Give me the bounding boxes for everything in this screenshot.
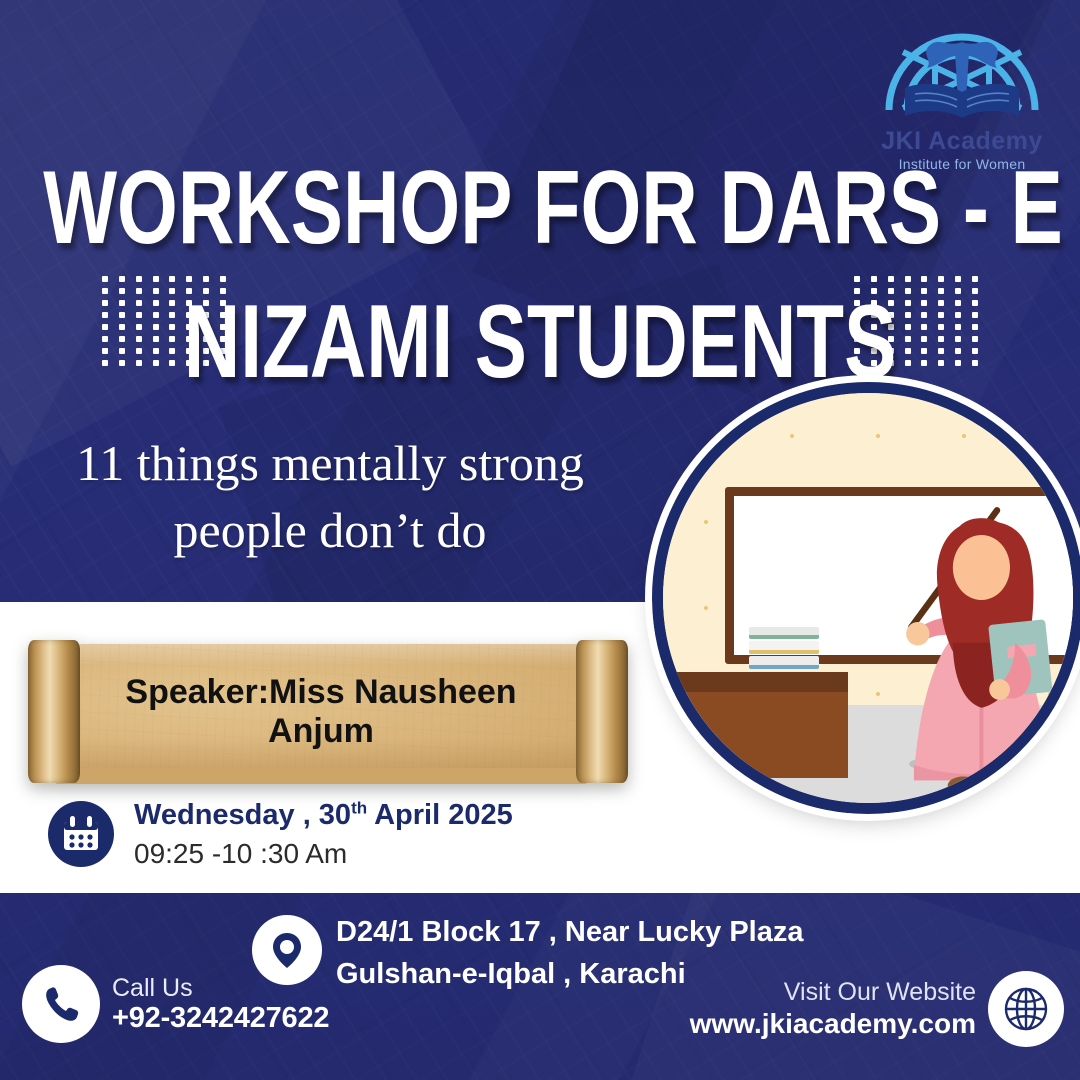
event-date-month-year: April 2025 — [367, 799, 513, 831]
event-date-ordinal: th — [351, 798, 367, 817]
teacher-figure-icon — [893, 487, 1080, 799]
address-line-2: Gulshan-e-Iqbal , Karachi — [336, 958, 686, 990]
tree-book-emblem-icon — [877, 12, 1047, 132]
poster-footer: Call Us +92-3242427622 D24/1 Block 17 , … — [0, 893, 1080, 1080]
title-line-1: WORKSHOP FOR DARS - E - — [43, 159, 1037, 259]
schedule-block: Wednesday , 30th April 2025 09:25 -10 :3… — [48, 798, 513, 870]
phone-icon — [22, 965, 100, 1043]
phone-number[interactable]: +92-3242427622 — [112, 1002, 329, 1034]
visit-website-label: Visit Our Website — [784, 978, 976, 1006]
subtitle-line-2: people don’t do — [30, 497, 630, 564]
contact-website[interactable]: Visit Our Website www.jkiacademy.com — [690, 971, 1064, 1047]
globe-icon — [988, 971, 1064, 1047]
title-line-2: NIZAMI STUDENTS — [43, 293, 1037, 393]
address-line-1: D24/1 Block 17 , Near Lucky Plaza — [336, 916, 803, 948]
poster-canvas: JKI Academy Institute for Women WORKSHOP… — [0, 0, 1080, 1080]
book-stack — [749, 627, 819, 676]
teacher-illustration — [652, 382, 1080, 814]
call-us-label: Call Us — [112, 974, 193, 1002]
event-time: 09:25 -10 :30 Am — [134, 837, 513, 870]
calendar-icon — [48, 801, 114, 867]
website-url[interactable]: www.jkiacademy.com — [690, 1008, 976, 1039]
speaker-name-text: Speaker:Miss Nausheen Anjum — [56, 644, 586, 779]
location-pin-icon — [252, 915, 322, 985]
poster-subtitle: 11 things mentally strong people don’t d… — [30, 430, 630, 564]
event-date: Wednesday , 30th April 2025 — [134, 798, 513, 832]
subtitle-line-1: 11 things mentally strong — [30, 430, 630, 497]
event-date-day: Wednesday , 30 — [134, 799, 351, 831]
speaker-scroll-banner: Speaker:Miss Nausheen Anjum — [16, 640, 626, 785]
poster-title: WORKSHOP FOR DARS - E - NIZAMI STUDENTS — [0, 168, 1080, 383]
